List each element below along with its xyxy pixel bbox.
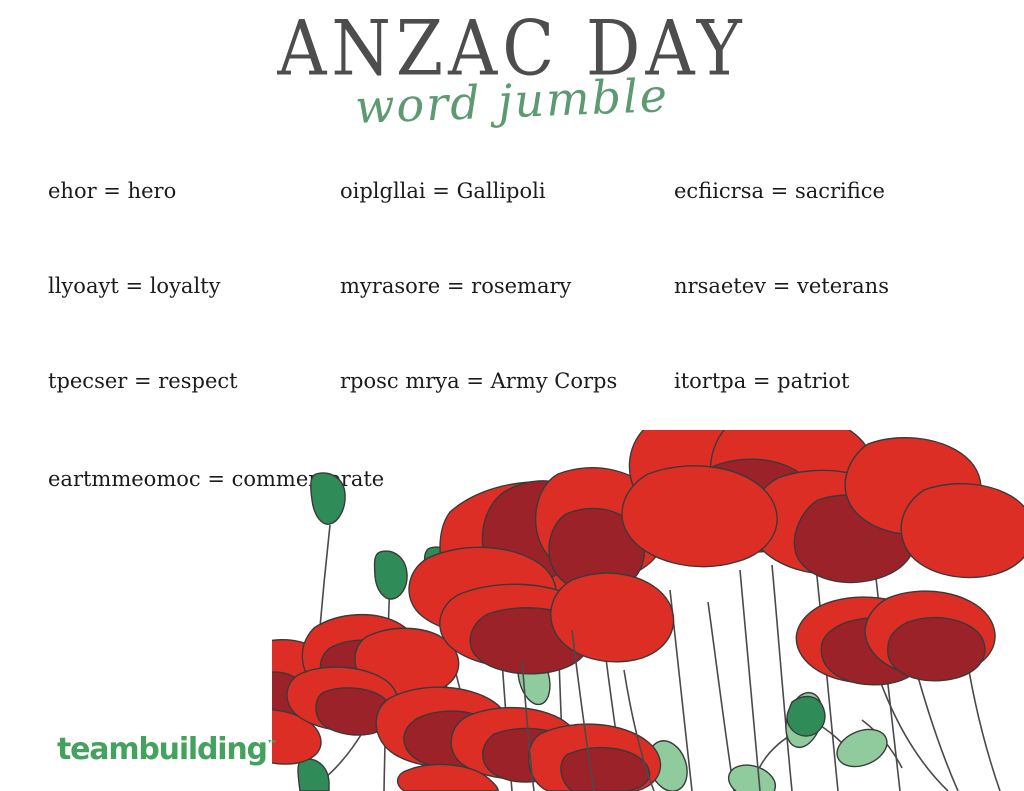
jumble-entry: oiplgllai = Gallipoli: [340, 178, 674, 273]
poppy-bloom: [409, 468, 674, 674]
teambuilding-logo[interactable]: teambuilding™: [57, 732, 278, 767]
worksheet-page: ANZAC DAY word jumble ehor = hero oiplgl…: [0, 0, 1024, 791]
jumble-entry: myrasore = rosemary: [340, 273, 674, 368]
jumble-entry: rposc mrya = Army Corps: [340, 368, 674, 463]
page-title-block: ANZAC DAY word jumble: [0, 14, 1024, 134]
jumble-entry: ecfiicrsa = sacrifice: [674, 178, 968, 273]
jumble-entry: nrsaetev = veterans: [674, 273, 968, 368]
jumble-row: ehor = hero oiplgllai = Gallipoli ecfiic…: [48, 178, 968, 273]
poppy-stems: [312, 525, 1000, 791]
poppy-bloom: [272, 640, 336, 764]
jumble-entry: ehor = hero: [48, 178, 340, 273]
word-jumble-list: ehor = hero oiplgllai = Gallipoli ecfiic…: [48, 178, 968, 463]
logo-wordmark: teambuilding: [57, 732, 267, 767]
jumble-entry: tpecser = respect: [48, 368, 340, 463]
trademark-icon: ™: [267, 738, 278, 751]
poppy-bloom: [398, 764, 499, 791]
poppy-bloom: [796, 591, 995, 685]
poppy-bloom: [376, 687, 579, 782]
poppy-bloom: [529, 724, 661, 791]
poppy-field-illustration: .pr { fill:#dd2e26; stroke:#3a3a3a; stro…: [272, 430, 1024, 791]
poppy-bloom: [287, 615, 459, 735]
jumble-entry: llyoayt = loyalty: [48, 273, 340, 368]
poppy-buds: [298, 473, 551, 791]
poppy-foreground-stems: [522, 570, 760, 791]
jumble-row: llyoayt = loyalty myrasore = rosemary nr…: [48, 273, 968, 368]
jumble-entry-commemorate: eartmmeomoc = commemorate: [48, 466, 384, 492]
jumble-row: tpecser = respect rposc mrya = Army Corp…: [48, 368, 968, 463]
jumble-entry: itortpa = patriot: [674, 368, 968, 463]
poppy-leaves: [374, 595, 893, 791]
